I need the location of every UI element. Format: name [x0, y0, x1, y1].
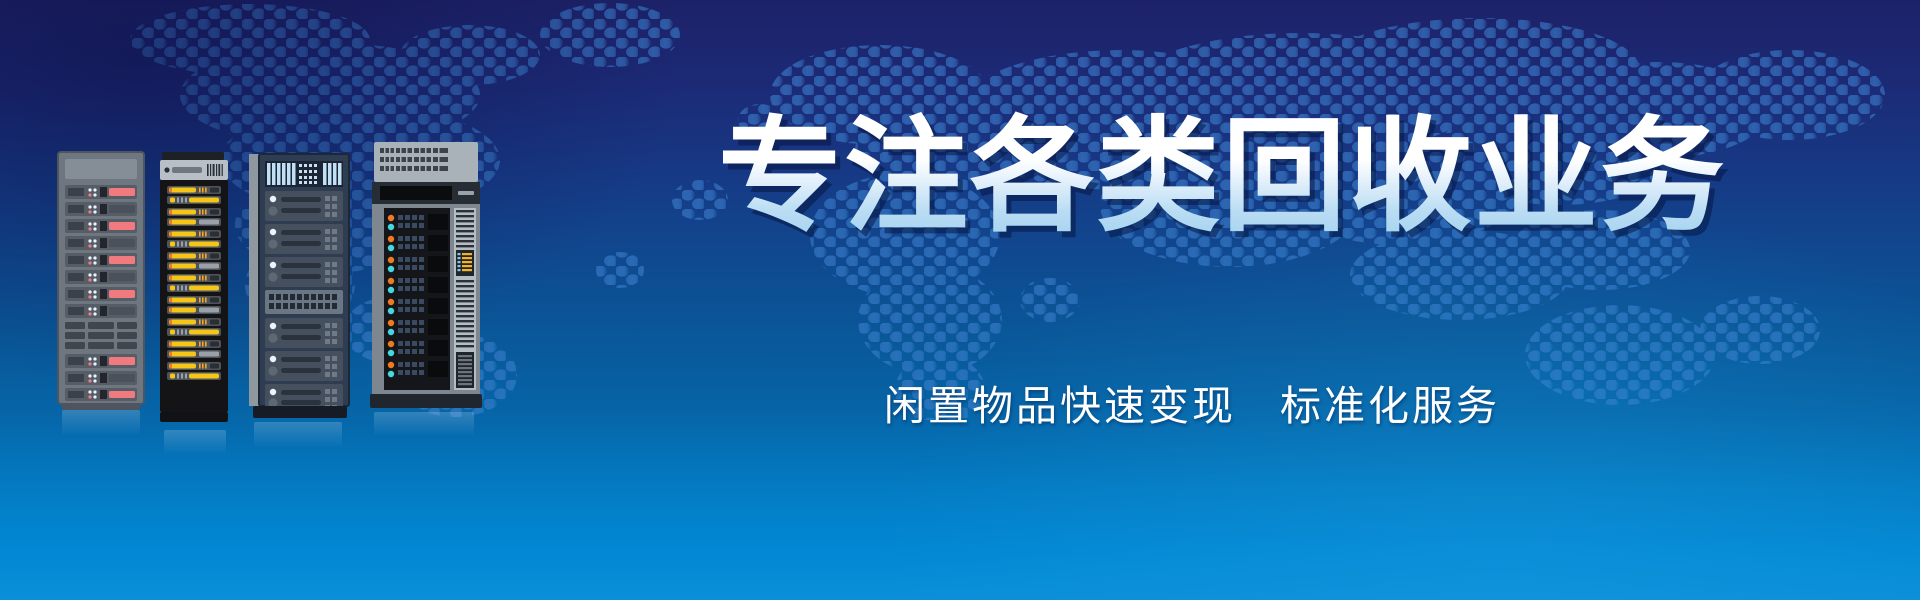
- banner-subtitle: 闲置物品快速变现 标准化服务: [884, 372, 1500, 432]
- server-rack-black: [158, 150, 230, 435]
- server-rack-tall: [368, 140, 484, 430]
- page-title: 专注各类回收业务: [718, 104, 1726, 250]
- server-racks-illustration: [0, 0, 700, 600]
- server-rack-dark-blue: [247, 152, 351, 430]
- recycling-business-banner: 专注各类回收业务 闲置物品快速变现 标准化服务: [0, 0, 1920, 600]
- server-rack-gray: [56, 150, 146, 430]
